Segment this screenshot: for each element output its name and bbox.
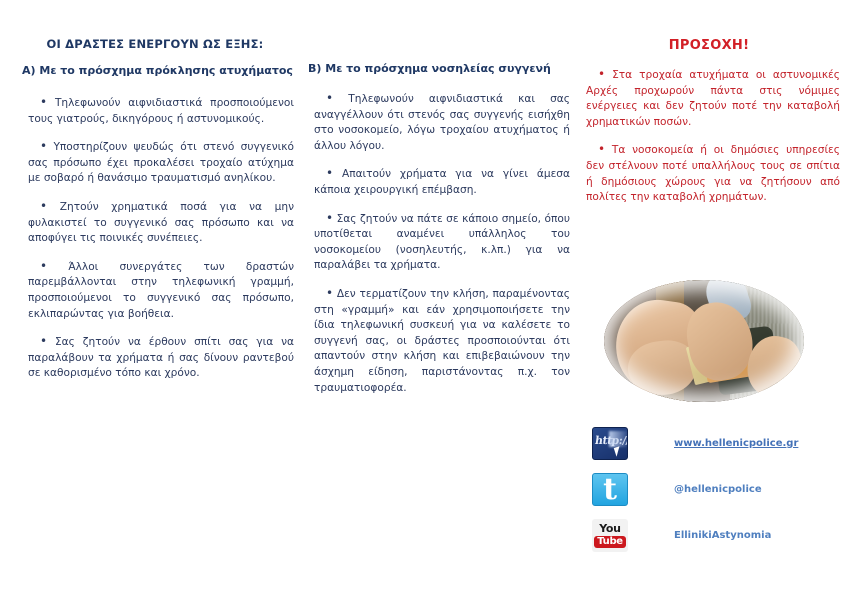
photo-vignette <box>604 280 804 402</box>
youtube-icon-tube-text: Tube <box>594 536 626 548</box>
twitter-handle[interactable]: @hellenicpolice <box>674 484 762 495</box>
website-icon-highlight <box>609 431 628 447</box>
social-row-twitter[interactable]: t @hellenicpolice <box>592 470 842 508</box>
middle-paragraph-3: • Σας ζητούν να πάτε σε κάποιο σημείο, ό… <box>314 212 570 274</box>
twitter-icon-glyph: t <box>593 473 627 506</box>
section-a-heading: Α) Με το πρόσχημα πρόκλησης ατυχήματος <box>22 64 296 78</box>
social-row-website[interactable]: http:// www.hellenicpolice.gr <box>592 424 842 462</box>
left-paragraph-list: • Τηλεφωνούν αιφνιδιαστικά προσποιούμενο… <box>28 96 294 395</box>
section-b-heading: Β) Με το πρόσχημα νοσηλείας συγγενή <box>308 62 570 76</box>
bullet-icon: • <box>40 139 47 153</box>
left-paragraph-5: • Σας ζητούν να έρθουν σπίτι σας για να … <box>28 335 294 382</box>
middle-paragraph-1: • Τηλεφωνούν αιφνιδιαστικά και σας αναγγ… <box>314 92 570 154</box>
website-link[interactable]: www.hellenicpolice.gr <box>674 438 798 449</box>
bullet-icon: • <box>598 142 605 156</box>
right-paragraph-2-text: Τα νοσοκομεία ή οι δημόσιες υπηρεσίες δε… <box>586 144 840 203</box>
bullet-icon: • <box>326 286 333 300</box>
middle-paragraph-2-text: Απαιτούν χρήματα για να γίνει άμεσα κάπο… <box>314 168 570 196</box>
middle-paragraph-4: • Δεν τερματίζουν την κλήση, παραμένοντα… <box>314 287 570 396</box>
page-title: ΟΙ ΔΡΑΣΤΕΣ ΕΝΕΡΓΟΥΝ ΩΣ ΕΞΗΣ: <box>14 38 296 52</box>
left-paragraph-1: • Τηλεφωνούν αιφνιδιαστικά προσποιούμενο… <box>28 96 294 127</box>
right-paragraph-1-text: Στα τροχαία ατυχήματα οι αστυνομικές Αρχ… <box>586 69 840 128</box>
bullet-icon: • <box>40 95 47 109</box>
bullet-icon: • <box>40 199 47 213</box>
left-paragraph-1-text: Τηλεφωνούν αιφνιδιαστικά προσποιούμενοι … <box>28 97 294 125</box>
right-paragraph-1: • Στα τροχαία ατυχήματα οι αστυνομικές Α… <box>586 68 840 130</box>
bullet-icon: • <box>598 67 605 81</box>
money-exchange-photo <box>604 280 804 402</box>
middle-subheading-wrapper: Β) Με το πρόσχημα νοσηλείας συγγενή <box>308 62 570 76</box>
bullet-icon: • <box>326 91 333 105</box>
left-paragraph-5-text: Σας ζητούν να έρθουν σπίτι σας για να πα… <box>28 336 294 379</box>
youtube-channel[interactable]: EllinikiAstynomia <box>674 530 771 541</box>
twitter-icon[interactable]: t <box>592 473 628 506</box>
attention-heading-wrapper: ΠΡΟΣΟΧΗ! <box>578 38 840 54</box>
left-paragraph-3-text: Ζητούν χρηματικά ποσά για να μην φυλακισ… <box>28 201 294 244</box>
left-paragraph-2-text: Υποστηρίζουν ψευδώς ότι στενό συγγενικό … <box>28 141 294 184</box>
brochure-page: ΟΙ ΔΡΑΣΤΕΣ ΕΝΕΡΓΟΥΝ ΩΣ ΕΞΗΣ: Α) Με το πρ… <box>0 0 853 594</box>
left-heading-wrapper: ΟΙ ΔΡΑΣΤΕΣ ΕΝΕΡΓΟΥΝ ΩΣ ΕΞΗΣ: <box>14 0 296 52</box>
youtube-icon-you-text: You <box>599 523 620 535</box>
middle-paragraph-list: • Τηλεφωνούν αιφνιδιαστικά και σας αναγγ… <box>314 92 570 409</box>
left-paragraph-4: • Άλλοι συνεργάτες των δραστών παρεμβάλλ… <box>28 260 294 322</box>
bullet-icon: • <box>326 166 333 180</box>
bullet-icon: • <box>40 334 47 348</box>
right-paragraph-2: • Τα νοσοκομεία ή οι δημόσιες υπηρεσίες … <box>586 143 840 205</box>
social-links-block: http:// www.hellenicpolice.gr t @helleni… <box>592 424 842 562</box>
youtube-icon[interactable]: You Tube <box>592 519 628 552</box>
website-http-icon[interactable]: http:// <box>592 427 628 460</box>
middle-paragraph-1-text: Τηλεφωνούν αιφνιδιαστικά και σας αναγγέλ… <box>314 93 570 152</box>
middle-paragraph-3-text: Σας ζητούν να πάτε σε κάποιο σημείο, όπο… <box>314 213 570 272</box>
left-subheading-wrapper: Α) Με το πρόσχημα πρόκλησης ατυχήματος <box>22 64 296 78</box>
social-row-youtube[interactable]: You Tube EllinikiAstynomia <box>592 516 842 554</box>
middle-paragraph-4-text: Δεν τερματίζουν την κλήση, παραμένοντας … <box>314 288 570 394</box>
bullet-icon: • <box>40 259 47 273</box>
mouse-cursor-icon <box>614 446 622 456</box>
left-paragraph-2: • Υποστηρίζουν ψευδώς ότι στενό συγγενικ… <box>28 140 294 187</box>
middle-paragraph-2: • Απαιτούν χρήματα για να γίνει άμεσα κά… <box>314 167 570 198</box>
left-paragraph-4-text: Άλλοι συνεργάτες των δραστών παρεμβάλλον… <box>28 261 294 320</box>
left-paragraph-3: • Ζητούν χρηματικά ποσά για να μην φυλακ… <box>28 200 294 247</box>
bullet-icon: • <box>326 211 333 225</box>
photo-ellipse-frame <box>604 280 804 402</box>
right-paragraph-list: • Στα τροχαία ατυχήματα οι αστυνομικές Α… <box>586 68 840 219</box>
attention-title: ΠΡΟΣΟΧΗ! <box>578 38 840 54</box>
